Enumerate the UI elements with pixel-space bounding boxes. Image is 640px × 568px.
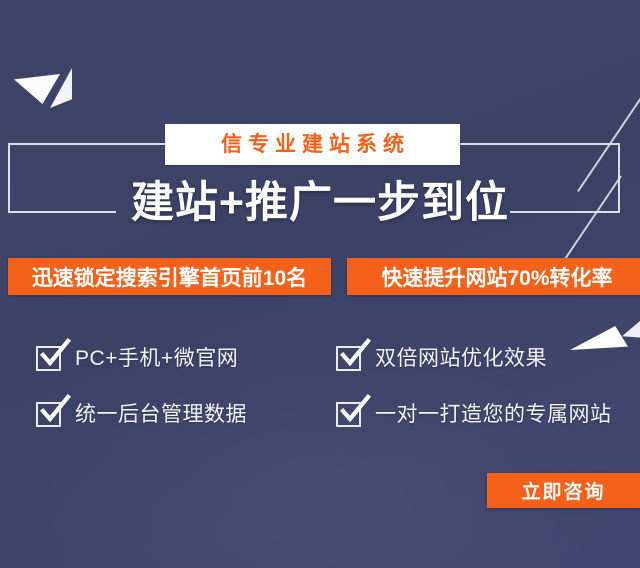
list-item: 双倍网站优化效果 — [336, 346, 636, 371]
tagline-box: 信专业建站系统 — [165, 124, 460, 165]
checkbox-checked-icon — [336, 402, 361, 427]
tagline-text: 信专业建站系统 — [215, 134, 410, 155]
page-title: 建站+推广一步到位 — [0, 182, 640, 225]
list-item: 统一后台管理数据 — [36, 402, 336, 427]
paper-plane-icon — [14, 62, 76, 108]
feature-list: PC+手机+微官网 双倍网站优化效果 统一后台管理数据 — [36, 330, 636, 442]
consult-now-button[interactable]: 立即咨询 — [487, 473, 640, 508]
list-item-label: 一对一打造您的专属网站 — [375, 404, 612, 425]
rank-badge: 迅速锁定搜索引擎首页前10名 — [8, 258, 331, 295]
checkbox-checked-icon — [36, 346, 61, 371]
promo-banner: 信专业建站系统 建站+推广一步到位 迅速锁定搜索引擎首页前10名 快速提升网站7… — [0, 0, 640, 568]
conversion-badge: 快速提升网站70%转化率 — [347, 258, 640, 295]
checkbox-checked-icon — [36, 402, 61, 427]
feature-row: PC+手机+微官网 双倍网站优化效果 — [36, 330, 636, 386]
list-item-label: PC+手机+微官网 — [75, 348, 238, 369]
feature-row: 统一后台管理数据 一对一打造您的专属网站 — [36, 386, 636, 442]
list-item: 一对一打造您的专属网站 — [336, 402, 636, 427]
list-item-label: 统一后台管理数据 — [75, 404, 247, 425]
checkbox-checked-icon — [336, 346, 361, 371]
list-item: PC+手机+微官网 — [36, 346, 336, 371]
list-item-label: 双倍网站优化效果 — [375, 348, 547, 369]
